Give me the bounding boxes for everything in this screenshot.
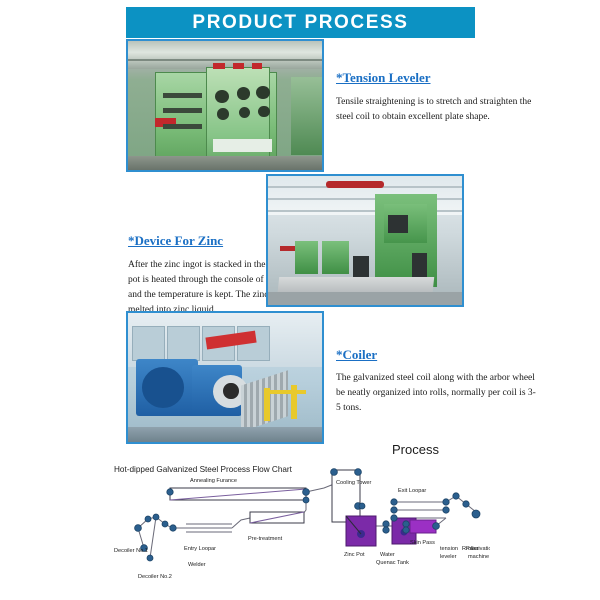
label-pre-treatment: Pre-treatment <box>248 536 283 542</box>
photo1-indicator-c <box>252 63 262 69</box>
photo1-wheel-f <box>258 106 270 118</box>
zinc-pot-shape <box>346 516 376 546</box>
photo-coiler <box>126 311 324 444</box>
photo-tension-leveler <box>126 39 324 172</box>
process-heading: Process <box>392 442 439 457</box>
flow-chart-title: Hot-dipped Galvanized Steel Process Flow… <box>114 465 293 474</box>
section-title-device-for-zinc: *Device For Zinc <box>128 233 223 249</box>
passivation-machine-shape <box>410 520 436 533</box>
label-entry-loopar: Entry Loopar <box>184 546 216 552</box>
photo2-crane <box>326 181 384 187</box>
photo3-floor <box>128 427 322 442</box>
label-zinc-pot: Zinc Pot <box>344 552 365 558</box>
process-flow-chart: Hot-dipped Galvanized Steel Process Flow… <box>110 462 490 598</box>
photo3-arbor-hub <box>223 383 239 400</box>
label-welder: Welder <box>188 562 206 568</box>
photo2-machine-left-a <box>295 241 318 275</box>
photo2-worker-a <box>353 256 369 279</box>
page-title: PRODUCT PROCESS <box>192 12 408 34</box>
page-header-banner: PRODUCT PROCESS <box>126 7 475 38</box>
photo1-rail-b <box>163 108 202 113</box>
photo3-window-b <box>167 326 200 362</box>
photo1-wheel-a <box>215 90 229 103</box>
photo1-wheel-c <box>256 86 270 99</box>
photo3-window-a <box>132 326 165 362</box>
photo1-floor <box>128 156 322 170</box>
photo2-machine-left-b <box>322 241 349 275</box>
photo2-floor <box>268 292 462 305</box>
label-machine: machine <box>468 554 489 560</box>
photo1-rail-c <box>163 124 202 129</box>
photo1-wheel-d <box>217 108 229 120</box>
photo3-rail-bar <box>264 390 307 393</box>
photo2-dark-unit-a <box>388 215 407 233</box>
section-body-tension-leveler: Tensile straightening is to stretch and … <box>336 95 536 125</box>
label-rroller: Rroller <box>462 546 479 552</box>
photo1-rail-a <box>163 93 202 98</box>
section-body-coiler: The galvanized steel coil along with the… <box>336 371 536 416</box>
label-annealing-furance: Annealing Furance <box>190 478 237 484</box>
label-quenac-tank: Quenac Tank <box>376 560 409 566</box>
label-tension: tension <box>440 546 458 552</box>
label-skin-pass: Skin Pass <box>410 540 435 546</box>
label-decoiler-1: Decoiler No.1 <box>114 548 148 554</box>
photo1-roof <box>128 41 322 69</box>
photo1-indicator-b <box>233 63 245 69</box>
label-exit-loopar: Exit Loopar <box>398 488 426 494</box>
photo-device-for-zinc <box>266 174 464 307</box>
photo1-roof-beam <box>128 59 322 61</box>
section-title-coiler: *Coiler <box>336 347 377 363</box>
section-title-tension-leveler: *Tension Leveler <box>336 70 431 86</box>
photo1-right-equipment <box>291 77 322 154</box>
label-decoiler-2: Decoiler No.2 <box>138 574 172 580</box>
annealing-furance-shape <box>170 488 306 500</box>
label-water: Water <box>380 552 395 558</box>
cooling-tower-shape <box>332 470 360 522</box>
label-cooling-tower: Cooling Tower <box>336 480 371 486</box>
photo1-control-panel <box>213 139 271 152</box>
photo1-indicator-a <box>213 63 225 69</box>
pre-treatment-shape <box>250 512 304 523</box>
label-leveler: leveler <box>440 554 457 560</box>
